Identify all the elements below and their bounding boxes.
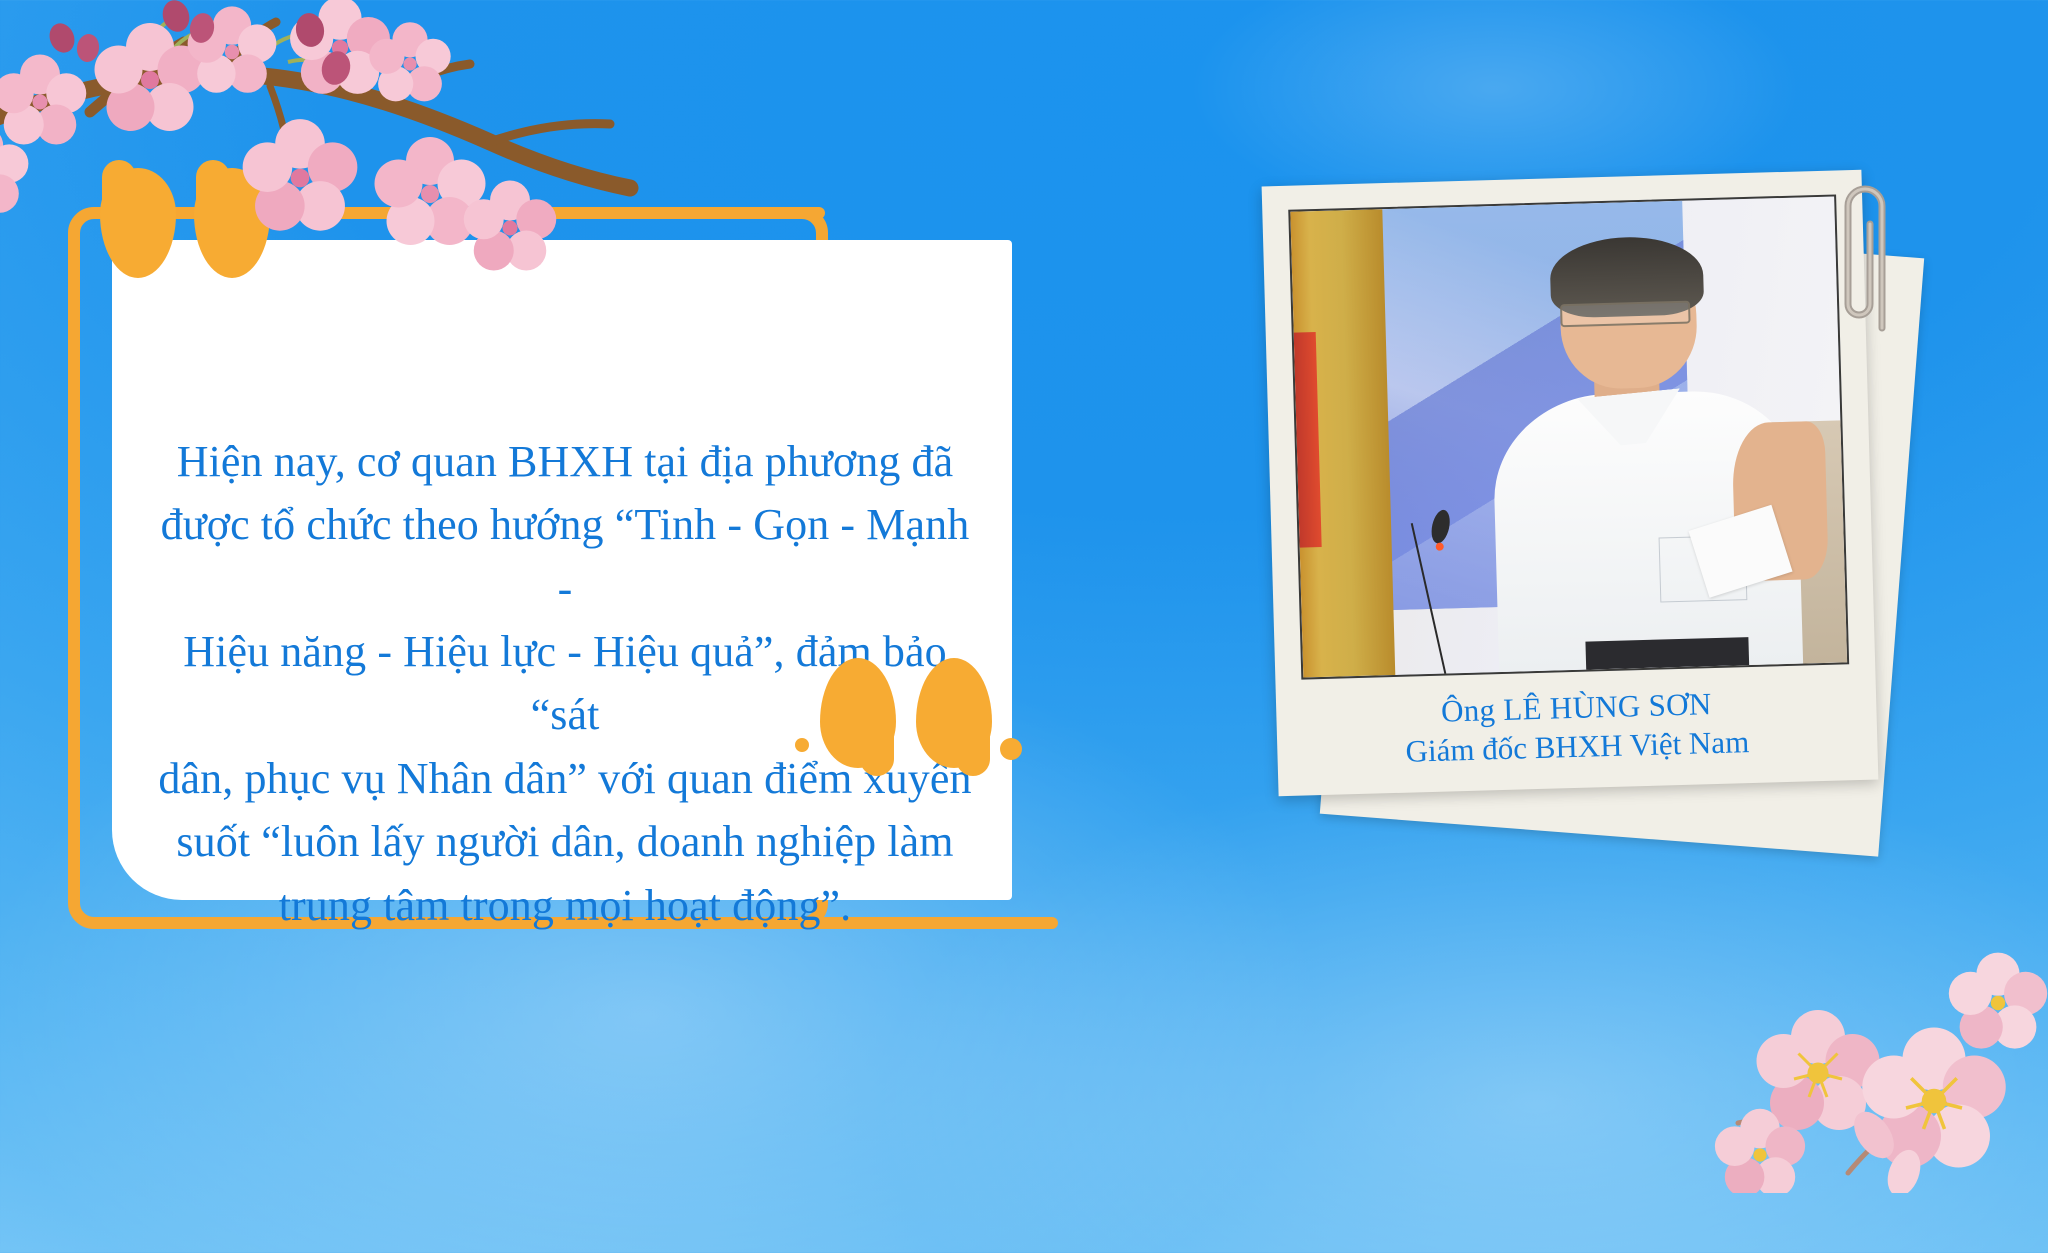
quote-dot-right xyxy=(1000,738,1022,760)
quote-line: được tổ chức theo hướng “Tinh - Gọn - Mạ… xyxy=(150,493,980,620)
quote-line: suốt “luôn lấy người dân, doanh nghiệp l… xyxy=(150,810,980,873)
quote-line: trung tâm trong mọi hoạt động”. xyxy=(150,874,980,937)
cherry-blossom-branch-icon xyxy=(0,0,650,302)
speaker-photo xyxy=(1288,194,1849,679)
polaroid-card-front: Ông LÊ HÙNG SƠN Giám đốc BHXH Việt Nam xyxy=(1262,170,1879,797)
paperclip-icon xyxy=(1838,158,1904,338)
quote-line: Hiện nay, cơ quan BHXH tại địa phương đã xyxy=(150,430,980,493)
cherry-blossom-cluster-icon xyxy=(1698,873,2048,1193)
photo-caption: Ông LÊ HÙNG SƠN Giám đốc BHXH Việt Nam xyxy=(1302,680,1852,773)
closing-quote-mark-icon xyxy=(812,648,992,768)
quote-dot-left xyxy=(795,738,809,752)
